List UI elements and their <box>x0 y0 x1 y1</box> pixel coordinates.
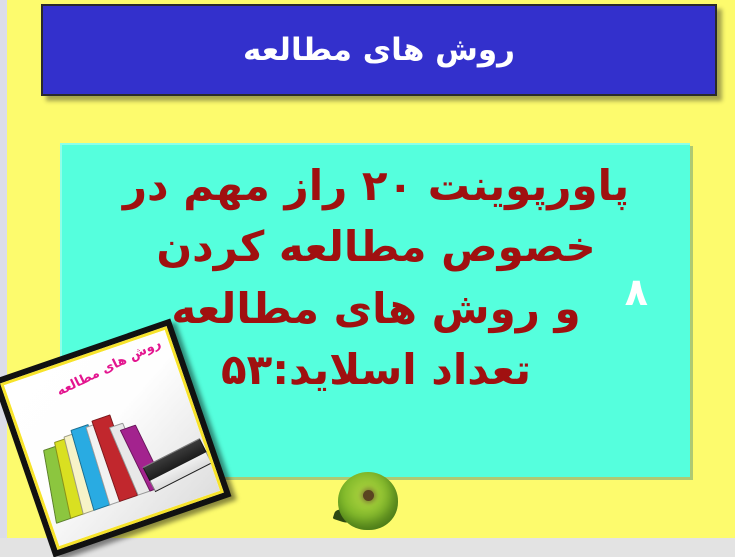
page-title: روش های مطالعه <box>243 32 515 68</box>
green-apple-icon <box>338 472 398 534</box>
page-bottom-strip <box>0 538 735 556</box>
page-left-gutter <box>0 0 7 538</box>
apple-stem-dimple <box>363 490 374 501</box>
content-line-2: خصوص مطالعه کردن <box>80 216 672 277</box>
page-number-marker: ۸ <box>625 273 648 311</box>
title-banner: روش های مطالعه <box>41 4 717 96</box>
slide-canvas: روش های مطالعه پاورپوینت ۲۰ راز مهم در خ… <box>0 0 735 556</box>
apple-body <box>338 472 398 530</box>
content-line-1: پاورپوینت ۲۰ راز مهم در <box>80 155 672 216</box>
